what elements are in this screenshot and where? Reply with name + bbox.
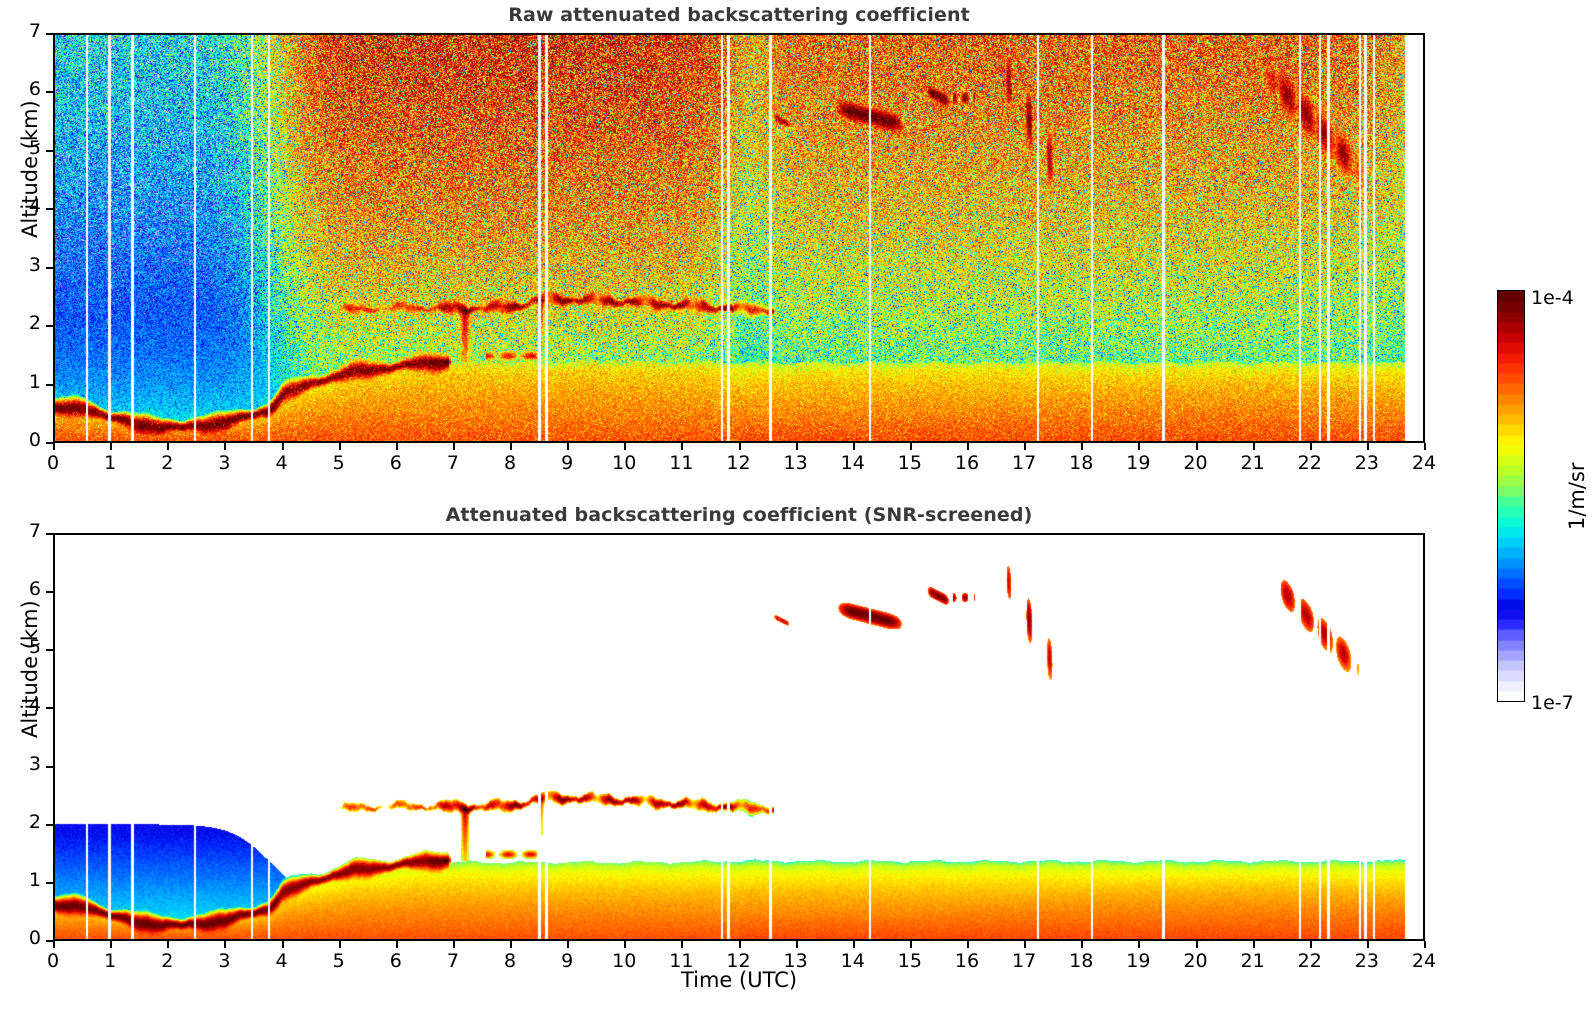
x-tick-label: 3 xyxy=(199,452,249,474)
y-tick xyxy=(46,766,53,768)
panel-screened-xlabel: Time (UTC) xyxy=(53,968,1425,992)
x-tick-label: 16 xyxy=(942,452,992,474)
y-tick xyxy=(46,384,53,386)
y-tick-label: 6 xyxy=(1,78,41,100)
y-tick-label: 2 xyxy=(1,811,41,833)
y-tick xyxy=(46,442,53,444)
y-tick xyxy=(46,940,53,942)
x-tick-label: 22 xyxy=(1285,452,1335,474)
x-tick xyxy=(1196,443,1198,450)
x-tick xyxy=(453,443,455,450)
panel-raw-ylabel: Altitude (km) xyxy=(18,100,42,238)
y-tick-label: 1 xyxy=(1,869,41,891)
x-tick xyxy=(396,941,398,948)
y-tick-label: 0 xyxy=(1,927,41,949)
x-tick xyxy=(1138,941,1140,948)
colorbar-unit-label: 1/m/sr xyxy=(1565,462,1589,530)
y-tick xyxy=(46,591,53,593)
x-tick xyxy=(1310,941,1312,948)
x-tick-label: 5 xyxy=(314,452,364,474)
x-tick xyxy=(167,941,169,948)
x-tick xyxy=(1424,443,1426,450)
y-tick-label: 3 xyxy=(1,753,41,775)
x-tick-label: 17 xyxy=(999,452,1049,474)
x-tick xyxy=(910,443,912,450)
x-tick xyxy=(110,941,112,948)
x-tick xyxy=(1424,941,1426,948)
y-tick xyxy=(46,533,53,535)
y-tick-label: 7 xyxy=(1,520,41,542)
x-tick xyxy=(567,941,569,948)
x-tick xyxy=(681,941,683,948)
colorbar: 1e-4 1e-7 1/m/sr xyxy=(1455,280,1595,710)
x-tick xyxy=(796,443,798,450)
x-tick-label: 0 xyxy=(28,452,78,474)
y-tick-label: 1 xyxy=(1,371,41,393)
y-tick xyxy=(46,33,53,35)
x-tick xyxy=(853,941,855,948)
x-tick xyxy=(224,941,226,948)
x-tick xyxy=(167,443,169,450)
x-tick-label: 19 xyxy=(1113,452,1163,474)
x-tick xyxy=(1081,941,1083,948)
x-tick-label: 21 xyxy=(1228,452,1278,474)
x-tick xyxy=(339,941,341,948)
x-tick xyxy=(339,443,341,450)
panel-screened-title: Attenuated backscattering coefficient (S… xyxy=(53,504,1425,526)
y-tick xyxy=(46,91,53,93)
x-tick xyxy=(567,443,569,450)
x-tick-label: 14 xyxy=(828,452,878,474)
x-tick xyxy=(1253,443,1255,450)
x-tick xyxy=(1196,941,1198,948)
x-tick xyxy=(1081,443,1083,450)
x-tick xyxy=(796,941,798,948)
x-tick xyxy=(1024,941,1026,948)
x-tick xyxy=(1367,443,1369,450)
panel-raw-title: Raw attenuated backscattering coefficien… xyxy=(53,4,1425,26)
x-tick-label: 8 xyxy=(485,452,535,474)
y-tick xyxy=(46,150,53,152)
y-tick-label: 2 xyxy=(1,312,41,334)
x-tick-label: 1 xyxy=(85,452,135,474)
x-tick-label: 20 xyxy=(1171,452,1221,474)
y-tick xyxy=(46,208,53,210)
panel-screened-heatmap xyxy=(55,535,1423,939)
x-tick-label: 15 xyxy=(885,452,935,474)
x-tick xyxy=(739,443,741,450)
x-tick xyxy=(739,941,741,948)
x-tick xyxy=(624,941,626,948)
x-tick xyxy=(967,941,969,948)
x-tick xyxy=(282,941,284,948)
x-tick xyxy=(1024,443,1026,450)
x-tick xyxy=(1253,941,1255,948)
x-tick xyxy=(53,941,55,948)
colorbar-min-label: 1e-7 xyxy=(1531,692,1574,714)
y-tick-label: 0 xyxy=(1,429,41,451)
x-tick xyxy=(624,443,626,450)
x-tick xyxy=(510,443,512,450)
y-tick-label: 3 xyxy=(1,254,41,276)
x-tick-label: 18 xyxy=(1056,452,1106,474)
x-tick-label: 6 xyxy=(371,452,421,474)
x-tick xyxy=(1138,443,1140,450)
x-tick xyxy=(910,941,912,948)
x-tick xyxy=(110,443,112,450)
x-tick xyxy=(853,443,855,450)
y-tick xyxy=(46,267,53,269)
x-tick-label: 12 xyxy=(714,452,764,474)
x-tick xyxy=(1310,443,1312,450)
x-tick xyxy=(681,443,683,450)
panel-screened-ylabel: Altitude (km) xyxy=(18,600,42,738)
x-tick-label: 2 xyxy=(142,452,192,474)
x-tick xyxy=(53,443,55,450)
x-tick xyxy=(967,443,969,450)
x-tick xyxy=(510,941,512,948)
x-tick-label: 10 xyxy=(599,452,649,474)
x-tick xyxy=(453,941,455,948)
y-tick xyxy=(46,882,53,884)
y-tick-label: 6 xyxy=(1,578,41,600)
colorbar-gradient xyxy=(1497,290,1525,702)
x-tick xyxy=(282,443,284,450)
x-tick-label: 9 xyxy=(542,452,592,474)
x-tick-label: 23 xyxy=(1342,452,1392,474)
x-tick-label: 13 xyxy=(771,452,821,474)
y-tick xyxy=(46,824,53,826)
x-tick-label: 11 xyxy=(656,452,706,474)
y-tick xyxy=(46,707,53,709)
y-tick-label: 7 xyxy=(1,20,41,42)
x-tick xyxy=(1367,941,1369,948)
panel-raw-heatmap xyxy=(55,35,1423,441)
x-tick-label: 4 xyxy=(257,452,307,474)
x-tick-label: 24 xyxy=(1399,452,1449,474)
x-tick xyxy=(396,443,398,450)
y-tick xyxy=(46,649,53,651)
x-tick-label: 7 xyxy=(428,452,478,474)
x-tick xyxy=(224,443,226,450)
y-tick xyxy=(46,325,53,327)
colorbar-max-label: 1e-4 xyxy=(1531,287,1574,309)
